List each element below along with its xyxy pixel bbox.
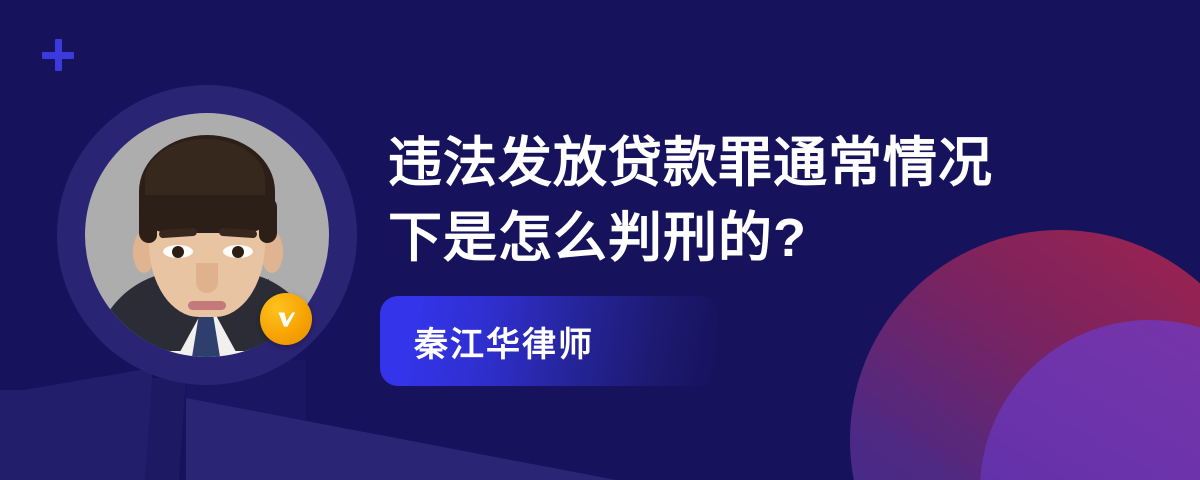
portrait-eye-left <box>163 245 193 258</box>
portrait-pupil-left <box>172 246 184 258</box>
verified-badge-icon <box>260 293 312 345</box>
lawyer-name-label: 秦江华律师 <box>380 317 594 366</box>
plus-icon-bar-vertical <box>55 39 62 71</box>
angled-pillar-shape <box>145 378 186 480</box>
lawyer-question-banner: 违法发放贷款罪通常情况 下是怎么判刑的? 秦江华律师 <box>0 0 1200 480</box>
lawyer-name-badge[interactable]: 秦江华律师 <box>380 296 718 386</box>
portrait-eye-right <box>223 245 253 258</box>
portrait-pupil-right <box>232 246 244 258</box>
plus-icon <box>42 39 74 71</box>
avatar[interactable] <box>57 85 357 385</box>
page-title: 违法发放贷款罪通常情况 下是怎么判刑的? <box>388 126 1128 275</box>
portrait-nose <box>196 263 218 293</box>
left-band <box>0 390 152 480</box>
headline-block: 违法发放贷款罪通常情况 下是怎么判刑的? <box>388 126 1128 275</box>
portrait-mouth <box>188 301 226 310</box>
